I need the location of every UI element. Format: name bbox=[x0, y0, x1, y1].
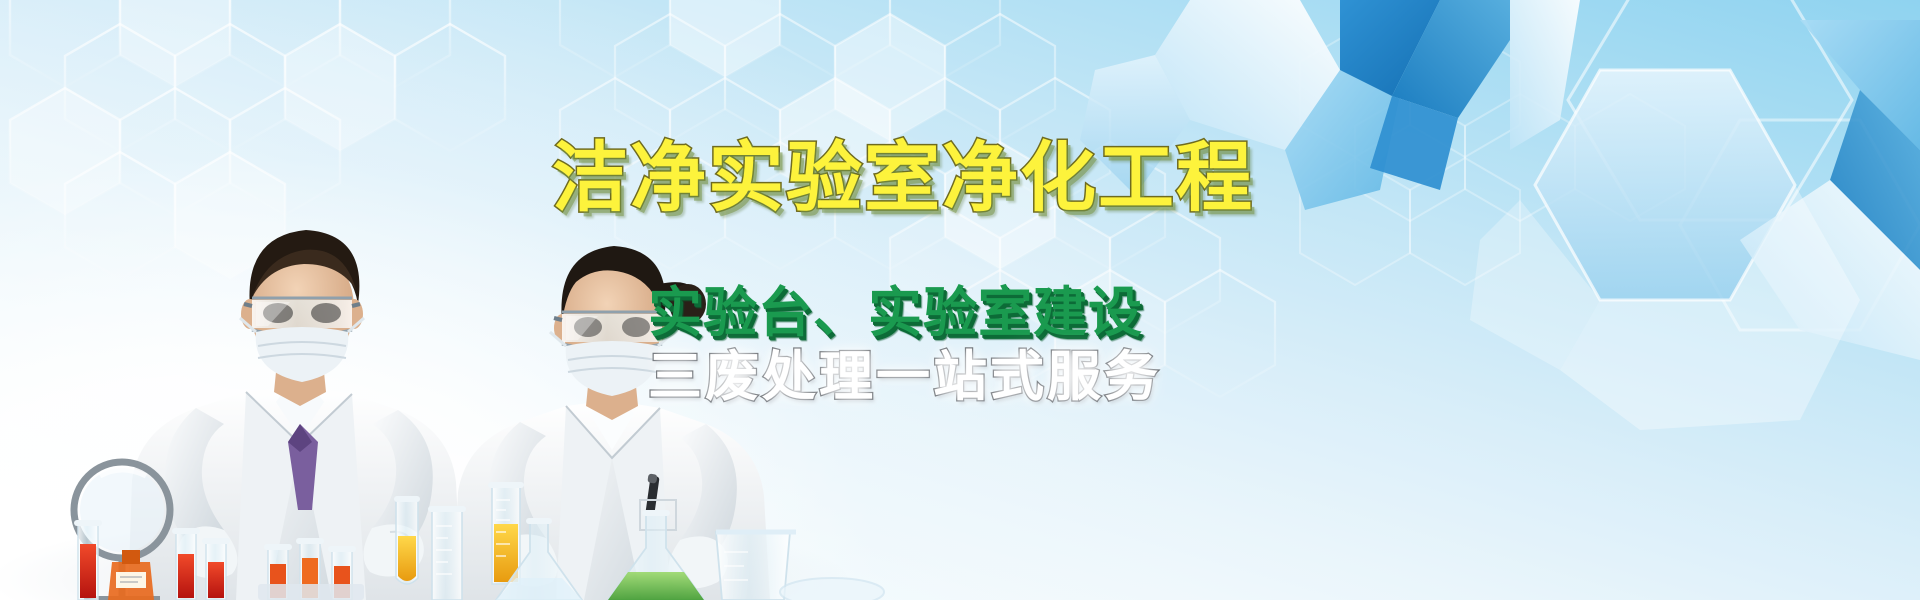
scientist-female bbox=[452, 246, 770, 600]
graduated-cylinder-orange bbox=[488, 482, 524, 584]
gloved-hand-female-left bbox=[498, 534, 558, 586]
face-mask-male bbox=[240, 318, 364, 382]
hexagon-pattern-decoration bbox=[0, 0, 1920, 600]
banner-copy: 洁净实验室净化工程 实验台、实验室建设 三废处理一站式服务 bbox=[0, 0, 1920, 600]
test-tube-red-tall bbox=[74, 520, 102, 600]
flask-red-a bbox=[172, 528, 200, 600]
reagent-bottle-amber bbox=[108, 550, 154, 600]
safety-glasses-male bbox=[244, 298, 360, 336]
beaker-clear bbox=[716, 532, 796, 600]
gloved-hand-female-right bbox=[668, 536, 728, 588]
lab-scientists-photo bbox=[0, 180, 900, 600]
watch-glass bbox=[780, 578, 884, 600]
graduated-cylinder-clear bbox=[428, 506, 466, 600]
foreground-glassware bbox=[74, 462, 884, 600]
erlenmeyer-flask-clear bbox=[496, 518, 582, 600]
gloved-hand-male-left bbox=[178, 526, 237, 578]
test-tube-yellow-male bbox=[394, 496, 420, 584]
scientist-male bbox=[128, 230, 462, 600]
banner-subline-green: 实验台、实验室建设 bbox=[648, 286, 1143, 340]
flask-red-b bbox=[202, 538, 230, 600]
erlenmeyer-flask-green bbox=[608, 510, 704, 600]
crystal-polygon-decoration bbox=[1040, 0, 1920, 600]
banner-headline: 洁净实验室净化工程 bbox=[552, 141, 1254, 217]
safety-glasses-female bbox=[554, 312, 670, 350]
gloved-hand-male-right bbox=[363, 524, 423, 576]
hero-banner: 洁净实验室净化工程 实验台、实验室建设 三废处理一站式服务 bbox=[0, 0, 1920, 600]
tube-orange-2 bbox=[296, 538, 324, 600]
banner-subline-outline: 三废处理一站式服务 bbox=[648, 350, 1161, 404]
tube-orange-3 bbox=[328, 546, 356, 600]
face-mask-female bbox=[550, 332, 674, 396]
pen-in-pocket bbox=[645, 473, 659, 514]
test-tube-rack bbox=[258, 538, 364, 600]
tube-orange-1 bbox=[264, 544, 292, 600]
magnifier-stand bbox=[74, 462, 170, 600]
